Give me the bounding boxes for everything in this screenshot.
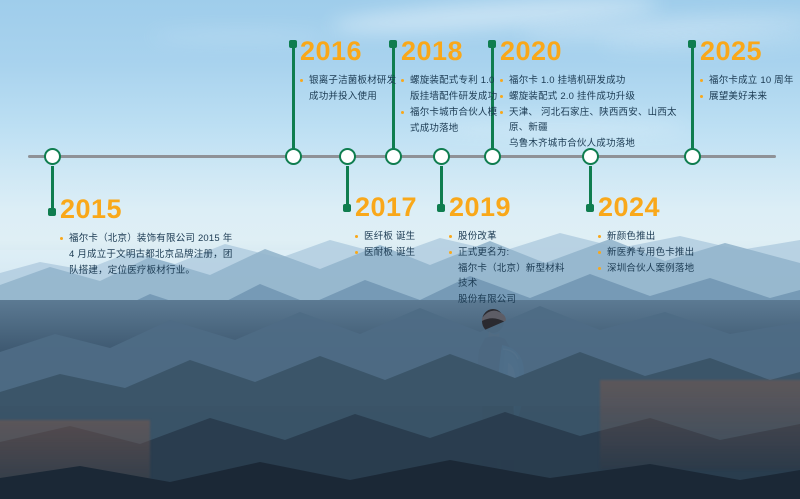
infographic-canvas: 2015 福尔卡（北京）装饰有限公司 2015 年 4 月成立于文明古都北京品牌… [0, 0, 800, 499]
list-item: 福尔卡（北京）装饰有限公司 2015 年 [60, 231, 238, 246]
list-item: 福尔卡成立 10 周年 [700, 73, 800, 88]
timeline-entry-2025: 2025 福尔卡成立 10 周年 展望美好未来 [700, 38, 800, 105]
timeline-year-2017: 2017 [355, 194, 445, 221]
list-item: 式成功落地 [401, 121, 513, 136]
list-item: 医耐板 诞生 [355, 245, 445, 260]
timeline-entry-2024: 2024 新颜色推出 新医养专用色卡推出 深圳合伙人案例落地 [598, 194, 728, 277]
timeline-year-2020: 2020 [500, 38, 690, 65]
list-item: 螺旋装配式专利 1.0 [401, 73, 513, 88]
timeline-entry-2018: 2018 螺旋装配式专利 1.0 版挂墙配件研发成功 福尔卡城市合伙人模 式成功… [401, 38, 513, 137]
timeline-stem-2017 [346, 166, 349, 208]
list-item: 天津、 河北石家庄、陕西西安、山西太原、新疆 [500, 105, 690, 135]
list-item: 成功并投入使用 [300, 89, 410, 104]
timeline-node-2016[interactable] [285, 148, 302, 165]
list-item: 螺旋装配式 2.0 挂件成功升级 [500, 89, 690, 104]
timeline-bullets-2019: 股份改革 正式更名为: 福尔卡（北京）新型材料技术 股份有限公司 [449, 229, 569, 307]
timeline-bullets-2018: 螺旋装配式专利 1.0 版挂墙配件研发成功 福尔卡城市合伙人模 式成功落地 [401, 73, 513, 136]
timeline-year-2018: 2018 [401, 38, 513, 65]
timeline-node-2017[interactable] [339, 148, 356, 165]
list-item: 正式更名为: [449, 245, 569, 260]
list-item: 深圳合伙人案例落地 [598, 261, 728, 276]
list-item: 新颜色推出 [598, 229, 728, 244]
timeline-node-2020[interactable] [484, 148, 501, 165]
timeline-entry-2015: 2015 福尔卡（北京）装饰有限公司 2015 年 4 月成立于文明古都北京品牌… [60, 196, 238, 279]
mountain-ridge-foreground-d [0, 448, 800, 499]
timeline-stem-2016 [292, 44, 295, 149]
timeline-node-2018[interactable] [385, 148, 402, 165]
list-item: 乌鲁木齐城市合伙人成功落地 [500, 136, 690, 151]
timeline-stem-2015 [51, 166, 54, 212]
timeline-stem-2024 [589, 166, 592, 208]
timeline-year-2019: 2019 [449, 194, 569, 221]
list-item: 股份有限公司 [449, 292, 569, 307]
timeline-entry-2017: 2017 医纤板 诞生 医耐板 诞生 [355, 194, 445, 261]
timeline-year-2015: 2015 [60, 196, 238, 223]
timeline-year-2025: 2025 [700, 38, 800, 65]
timeline-stem-2025 [691, 44, 694, 149]
timeline-axis [28, 155, 776, 158]
timeline-bullets-2024: 新颜色推出 新医养专用色卡推出 深圳合伙人案例落地 [598, 229, 728, 276]
timeline-node-2019[interactable] [433, 148, 450, 165]
timeline-bullets-2015: 福尔卡（北京）装饰有限公司 2015 年 4 月成立于文明古都北京品牌注册，团 … [60, 231, 238, 278]
timeline-node-2015[interactable] [44, 148, 61, 165]
list-item: 银离子洁菌板材研发 [300, 73, 410, 88]
timeline-bullets-2017: 医纤板 诞生 医耐板 诞生 [355, 229, 445, 260]
timeline-entry-2019: 2019 股份改革 正式更名为: 福尔卡（北京）新型材料技术 股份有限公司 [449, 194, 569, 308]
list-item: 福尔卡城市合伙人模 [401, 105, 513, 120]
list-item: 福尔卡 1.0 挂墙机研发成功 [500, 73, 690, 88]
list-item: 4 月成立于文明古都北京品牌注册，团 [60, 247, 238, 262]
list-item: 队搭建，定位医疗板材行业。 [60, 263, 238, 278]
list-item: 新医养专用色卡推出 [598, 245, 728, 260]
timeline-bullets-2020: 福尔卡 1.0 挂墙机研发成功 螺旋装配式 2.0 挂件成功升级 天津、 河北石… [500, 73, 690, 151]
list-item: 股份改革 [449, 229, 569, 244]
list-item: 版挂墙配件研发成功 [401, 89, 513, 104]
list-item: 医纤板 诞生 [355, 229, 445, 244]
list-item: 福尔卡（北京）新型材料技术 [449, 261, 569, 291]
timeline-year-2024: 2024 [598, 194, 728, 221]
list-item: 展望美好未来 [700, 89, 800, 104]
timeline-entry-2016: 2016 银离子洁菌板材研发 成功并投入使用 [300, 38, 410, 105]
timeline-bullets-2016: 银离子洁菌板材研发 成功并投入使用 [300, 73, 410, 104]
timeline-bullets-2025: 福尔卡成立 10 周年 展望美好未来 [700, 73, 800, 104]
timeline-year-2016: 2016 [300, 38, 410, 65]
timeline-entry-2020: 2020 福尔卡 1.0 挂墙机研发成功 螺旋装配式 2.0 挂件成功升级 天津… [500, 38, 690, 152]
